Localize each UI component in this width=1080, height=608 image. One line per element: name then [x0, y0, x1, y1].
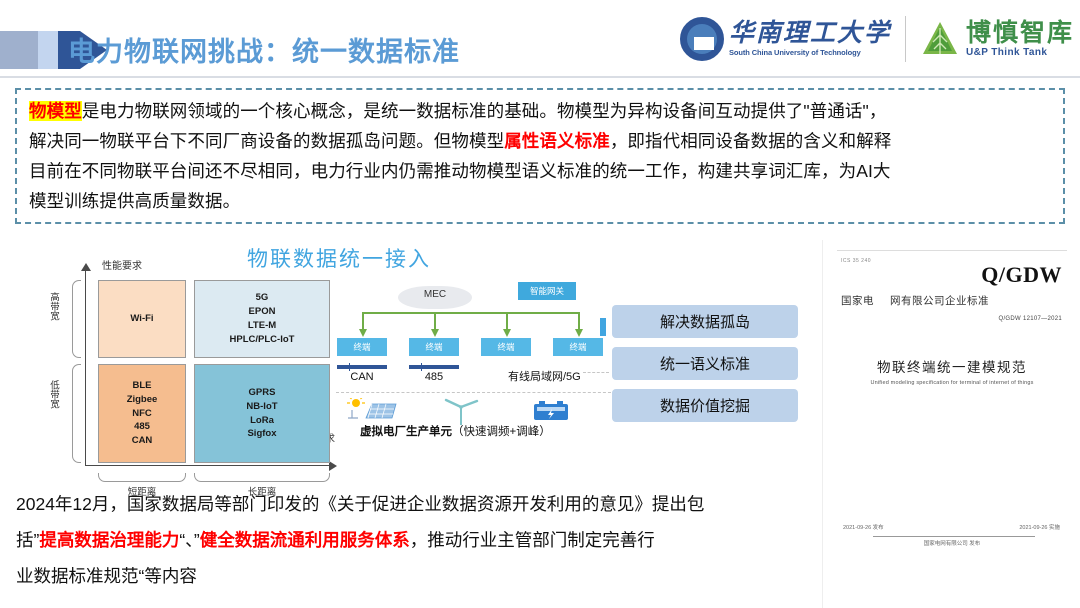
pill-connector — [600, 318, 606, 336]
callout-line-3: 目前在不同物联平台间还不尽相同，电力行业内仍需推动物模型语义标准的统一工作，构建… — [29, 156, 1053, 186]
bus-drop-4 — [578, 312, 580, 330]
scut-seal-icon — [680, 17, 724, 61]
pill-dashed-connector — [583, 372, 609, 373]
bus-drop-3 — [506, 312, 508, 330]
outcome-pill-group: 解决数据孤岛 统一语义标准 数据价值挖掘 — [612, 305, 798, 431]
logo-divider — [905, 16, 906, 62]
bottom-line-2-e: ，推动行业主管部门制定完善行 — [410, 530, 655, 550]
brace-high — [72, 280, 81, 358]
callout-line-2-a: 解决同一物联平台下不同厂商设备的数据孤岛问题。但物模型 — [29, 131, 504, 151]
pill-data-value-mining[interactable]: 数据价值挖掘 — [612, 389, 798, 422]
row-label-high-bandwidth: 高带宽 — [46, 292, 60, 321]
lan-5g-label: 有线局域网/5G — [508, 368, 581, 384]
rs485-bus-bar — [409, 365, 459, 369]
terminal-box-4: 终端 — [553, 338, 603, 356]
rs485-label: 485 — [409, 371, 459, 383]
smart-gateway-box: 智能网关 — [518, 282, 576, 300]
bottom-line-1: 2024年12月，国家数据局等部门印发的《关于促进企业数据资源开发利用的意见》提… — [16, 486, 816, 522]
quadrant-cell-ble: BLE Zigbee NFC 485 CAN — [98, 364, 186, 463]
doc-title: 物联终端统一建模规范 — [823, 356, 1080, 376]
slide-root: 电力物联网挑战：统一数据标准 华南理工大学 South China Univer… — [0, 0, 1080, 608]
doc-date-effective: 2021-09-26 实施 — [1019, 523, 1060, 531]
row-label-low-bandwidth: 低带宽 — [46, 380, 60, 409]
deco-block-light — [38, 31, 58, 69]
bottom-paragraph: 2024年12月，国家数据局等部门印发的《关于促进企业数据资源开发利用的意见》提… — [16, 486, 816, 594]
y-axis-label: 性能要求 — [102, 257, 142, 272]
access-bus-line — [362, 312, 578, 314]
bottom-line-2: 括”提高数据治理能力“、”健全数据流通利用服务体系，推动行业主管部门制定完善行 — [16, 522, 816, 558]
section-dashed-separator — [336, 392, 616, 393]
connectivity-quadrant-chart: 性能要求 覆盖要求 高带宽 低带宽 Wi-Fi 5G EPON LTE-M HP… — [30, 262, 330, 482]
doc-bottom-rule — [873, 536, 1035, 537]
scut-logo-text: 华南理工大学 South China University of Technol… — [729, 21, 891, 56]
unified-access-diagram: MEC 智能网关 终端 终端 终端 终端 CAN 485 有线局域网/5G — [336, 268, 626, 443]
brace-low — [72, 364, 81, 463]
callout-line-1-rest: 是电力物联网领域的一个核心概念，是统一数据标准的基础。物模型为异构设备间互动提供… — [82, 101, 887, 121]
bus-drop-1 — [362, 312, 364, 330]
scut-name-en: South China University of Technology — [729, 48, 891, 57]
doc-issuer: 国家电网有限公司 发布 — [823, 539, 1080, 547]
think-tank-logo: 博慎智库 U&P Think Tank — [920, 19, 1074, 59]
doc-standard-mark: Q/GDW — [981, 262, 1062, 288]
terminal-box-2: 终端 — [409, 338, 459, 356]
think-tank-name-cn: 博慎智库 — [966, 20, 1074, 46]
terminal-box-3: 终端 — [481, 338, 531, 356]
doc-date-issued: 2021-09-26 发布 — [843, 523, 884, 531]
vpp-caption-bold: 虚拟电厂生产单元 — [360, 426, 452, 438]
scut-name-cn: 华南理工大学 — [729, 21, 891, 47]
scut-logo: 华南理工大学 South China University of Technol… — [680, 17, 891, 61]
bottom-keyword-2: 健全数据流通利用服务体系 — [200, 530, 410, 550]
can-label: CAN — [337, 371, 387, 383]
doc-standard-number: Q/GDW 12107—2021 — [999, 316, 1063, 322]
mec-label: MEC — [398, 289, 472, 300]
logo-group: 华南理工大学 South China University of Technol… — [680, 8, 1074, 70]
pill-data-silos[interactable]: 解决数据孤岛 — [612, 305, 798, 338]
leaf-triangle-icon — [920, 19, 960, 59]
x-axis — [85, 465, 330, 466]
doc-organization: 国家电网有限公司企业标准 — [841, 293, 989, 308]
callout-box: 物模型是电力物联网领域的一个核心概念，是统一数据标准的基础。物模型为异构设备间互… — [15, 88, 1065, 224]
quadrant-cell-5g: 5G EPON LTE-M HPLC/PLC-IoT — [194, 280, 330, 358]
callout-line-1: 物模型是电力物联网领域的一个核心概念，是统一数据标准的基础。物模型为异构设备间互… — [29, 96, 1053, 126]
bottom-line-2-c: “、” — [179, 530, 199, 550]
callout-keyword-1: 物模型 — [29, 101, 82, 121]
deco-block-gray — [0, 31, 38, 69]
bottom-keyword-1: 提高数据治理能力 — [39, 530, 179, 550]
brace-long-distance — [194, 473, 330, 482]
y-axis — [85, 270, 86, 466]
callout-line-2-c: ，即指代相同设备数据的含义和解释 — [610, 131, 892, 151]
think-tank-text: 博慎智库 U&P Think Tank — [966, 20, 1074, 57]
standard-document-image: ICS 35 240 Q/GDW 国家电网有限公司企业标准 Q/GDW 1210… — [822, 240, 1080, 608]
doc-subtitle-en: Unified modeling specification for termi… — [823, 380, 1080, 386]
doc-ics-code: ICS 35 240 — [841, 258, 871, 264]
vpp-caption: 虚拟电厂生产单元（快速调频+调峰） — [360, 423, 551, 439]
vpp-caption-normal: （快速调频+调峰） — [452, 426, 551, 438]
can-bus-bar — [337, 365, 387, 369]
doc-org-b: 网有限公司企业标准 — [890, 295, 989, 307]
callout-line-4: 模型训练提供高质量数据。 — [29, 186, 1053, 216]
header-divider — [0, 76, 1080, 78]
think-tank-name-en: U&P Think Tank — [966, 47, 1047, 58]
doc-org-a: 国家电 — [841, 295, 874, 307]
page-title: 电力物联网挑战：统一数据标准 — [68, 30, 460, 69]
callout-line-2: 解决同一物联平台下不同厂商设备的数据孤岛问题。但物模型属性语义标准，即指代相同设… — [29, 126, 1053, 156]
brace-short-distance — [98, 473, 186, 482]
callout-keyword-2: 属性语义标准 — [504, 131, 610, 151]
quadrant-cell-gprs: GPRS NB-IoT LoRa Sigfox — [194, 364, 330, 463]
terminal-box-1: 终端 — [337, 338, 387, 356]
bottom-line-3: 业数据标准规范“等内容 — [16, 558, 816, 594]
doc-top-rule — [837, 250, 1067, 251]
bottom-line-2-a: 括” — [16, 530, 39, 550]
quadrant-cell-wifi: Wi-Fi — [98, 280, 186, 358]
bus-drop-2 — [434, 312, 436, 330]
pill-semantic-standard[interactable]: 统一语义标准 — [612, 347, 798, 380]
